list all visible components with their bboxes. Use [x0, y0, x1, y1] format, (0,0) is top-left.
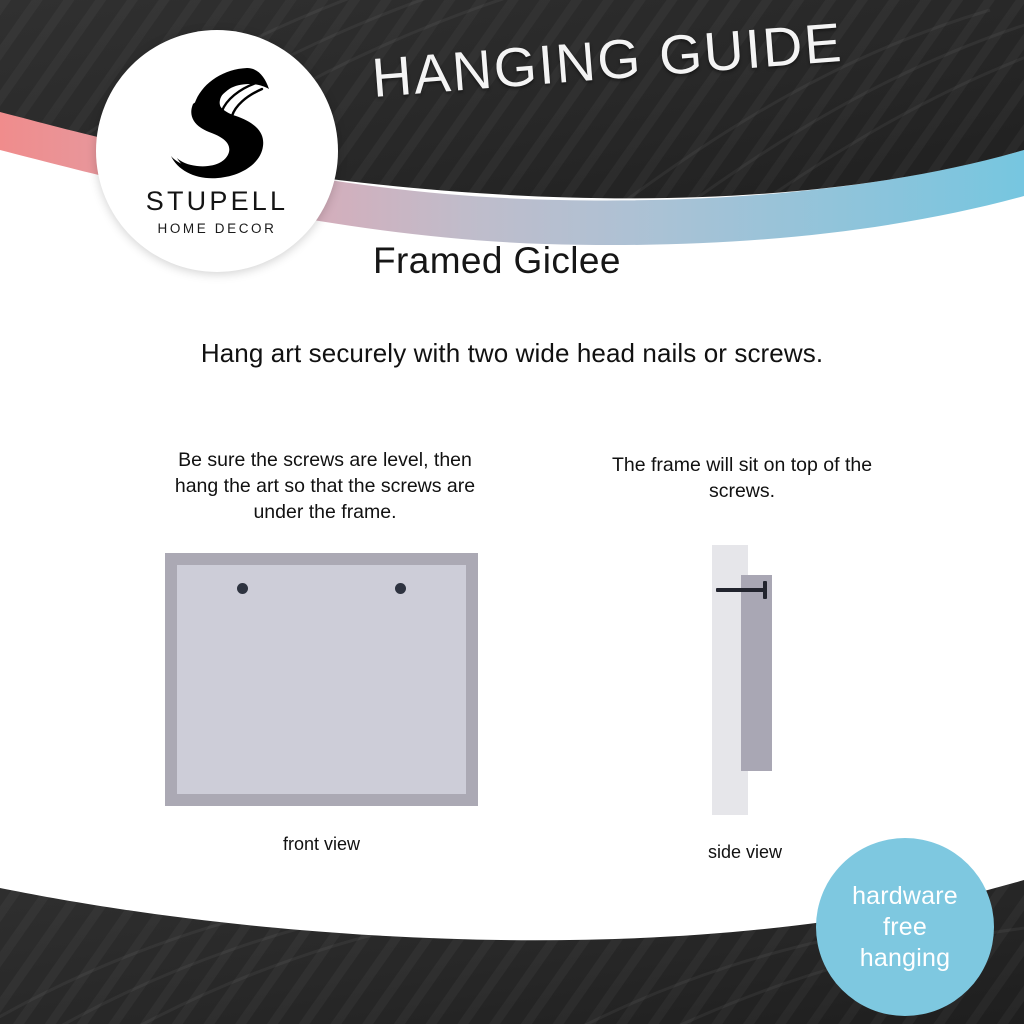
front-view-label: front view: [165, 834, 478, 855]
side-view-caption: The frame will sit on top of the screws.: [596, 452, 888, 504]
brand-tagline: HOME DECOR: [157, 221, 276, 236]
nail-head-icon: [763, 581, 767, 599]
brand-logo-badge: STUPELL HOME DECOR: [96, 30, 338, 272]
screw-dot-right: [395, 583, 406, 594]
hanging-guide-page: HANGING GUIDE STUPELL HOME DECOR Framed …: [0, 0, 1024, 1024]
frame-side-profile: [741, 575, 772, 771]
front-view-diagram: [165, 553, 478, 806]
badge-line-2: free: [883, 912, 927, 943]
frame-border: [165, 553, 478, 806]
product-type-heading: Framed Giclee: [373, 240, 621, 282]
screw-dot-left: [237, 583, 248, 594]
nail-shaft-icon: [716, 588, 766, 592]
front-view-caption: Be sure the screws are level, then hang …: [170, 447, 480, 525]
hardware-free-hanging-badge: hardware free hanging: [816, 838, 994, 1016]
brand-wordmark: STUPELL: [146, 186, 288, 217]
page-title: HANGING GUIDE: [370, 10, 846, 110]
badge-line-1: hardware: [852, 881, 958, 912]
side-view-label: side view: [645, 842, 845, 863]
stupell-swirl-icon: [152, 56, 282, 184]
lead-instruction: Hang art securely with two wide head nai…: [0, 338, 1024, 369]
frame-artwork-area: [177, 565, 466, 794]
badge-line-3: hanging: [860, 943, 950, 974]
side-view-diagram: [700, 545, 790, 820]
